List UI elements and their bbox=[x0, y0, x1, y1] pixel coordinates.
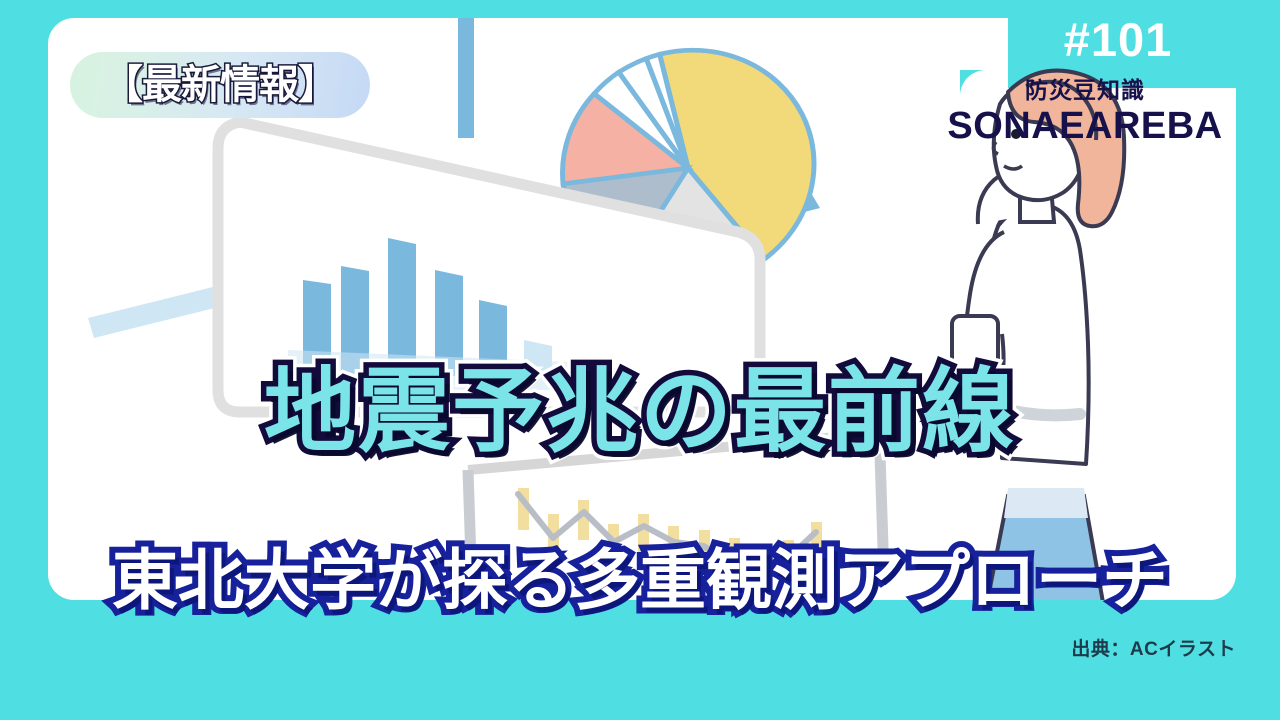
issue-number-tab: #101 bbox=[1000, 0, 1236, 78]
brand-logo-en: SONAEAREBA bbox=[935, 105, 1235, 149]
poster-canvas: #101 防災豆知識 SONAEAREBA 【最新情報】 地震予兆の最前線 地震… bbox=[0, 0, 1280, 720]
news-badge-label: 【最新情報】 bbox=[103, 65, 337, 105]
brand-logo: 防災豆知識 SONAEAREBA bbox=[935, 78, 1235, 168]
issue-number-label: #101 bbox=[1064, 16, 1173, 63]
news-badge: 【最新情報】 bbox=[70, 52, 370, 118]
brand-logo-jp: 防災豆知識 bbox=[935, 78, 1235, 103]
source-credit: 出典：ACイラスト bbox=[1071, 634, 1236, 661]
headline-main: 地震予兆の最前線 bbox=[0, 366, 1280, 458]
headline-sub: 東北大学が探る多重観測アプローチ bbox=[0, 548, 1280, 614]
